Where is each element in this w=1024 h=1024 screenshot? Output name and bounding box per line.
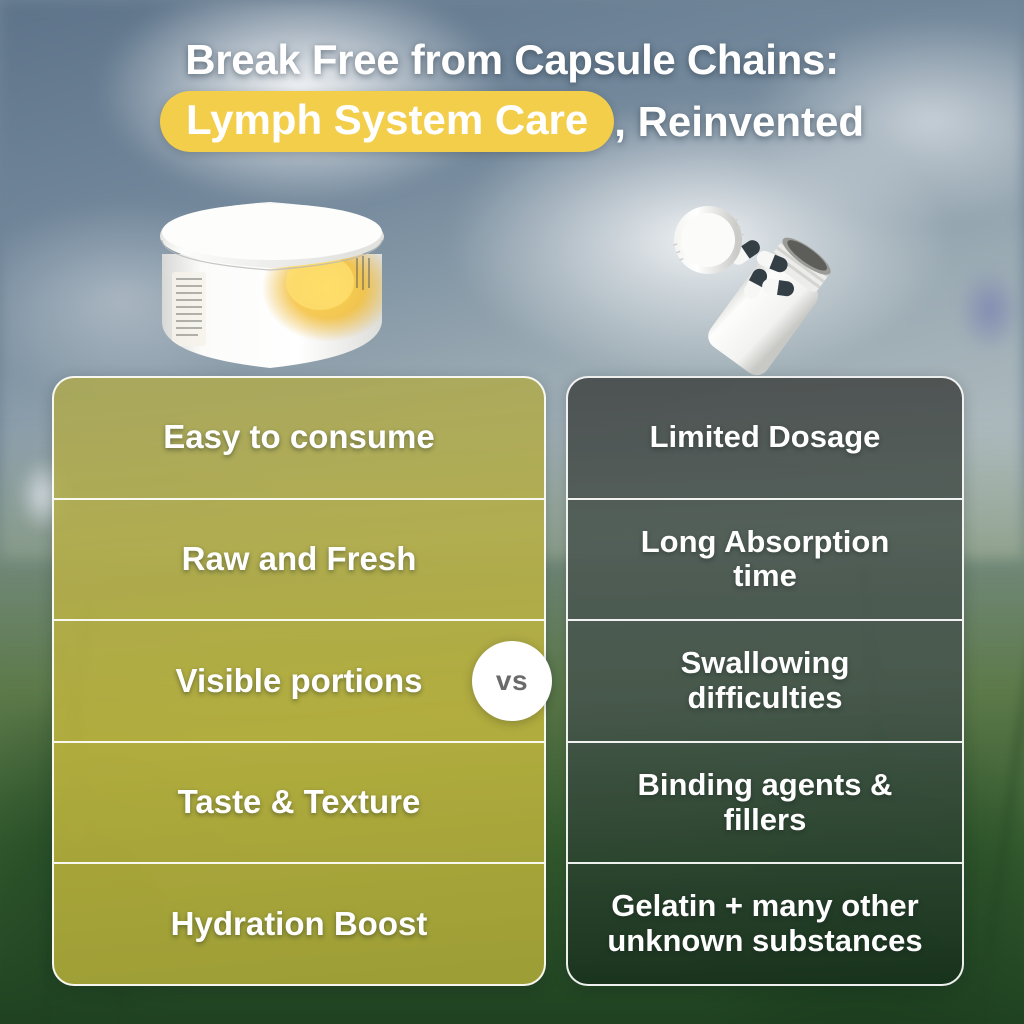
vs-label: vs — [496, 665, 528, 697]
benefit-label-2: Raw and Fresh — [182, 541, 417, 578]
headline-block: Break Free from Capsule Chains: Lymph Sy… — [0, 36, 1024, 152]
headline-tail: , Reinvented — [614, 98, 864, 145]
drawback-row-3: Swallowing difficulties — [568, 621, 962, 743]
headline-line-2: Lymph System Care, Reinvented — [0, 91, 1024, 152]
headline-line-1: Break Free from Capsule Chains: — [0, 36, 1024, 83]
benefit-row-4: Taste & Texture — [54, 743, 544, 865]
benefit-label-3: Visible portions — [176, 663, 423, 700]
drawbacks-card: Limited Dosage Long Absorption time Swal… — [566, 376, 964, 986]
drawback-label-1: Limited Dosage — [650, 420, 881, 455]
drawback-row-5: Gelatin + many other unknown substances — [568, 864, 962, 984]
drawback-label-5: Gelatin + many other unknown substances — [607, 889, 922, 958]
drawback-label-3: Swallowing difficulties — [681, 646, 850, 715]
pill-bottle-image — [660, 192, 860, 384]
headline-highlight-pill: Lymph System Care — [160, 91, 614, 152]
benefit-label-4: Taste & Texture — [178, 784, 421, 821]
benefit-row-1: Easy to consume — [54, 378, 544, 500]
drawback-row-1: Limited Dosage — [568, 378, 962, 500]
comparison-table: Easy to consume Raw and Fresh Visible po… — [0, 0, 1024, 1024]
drawback-label-2: Long Absorption time — [641, 525, 890, 594]
vs-badge: vs — [472, 641, 552, 721]
benefit-label-1: Easy to consume — [163, 419, 434, 456]
drawback-row-4: Binding agents & fillers — [568, 743, 962, 865]
benefit-label-5: Hydration Boost — [171, 906, 428, 943]
drawback-row-2: Long Absorption time — [568, 500, 962, 622]
benefit-row-5: Hydration Boost — [54, 864, 544, 984]
product-jar-image: Nature's Blast LYMPH GO Supports Lymphat… — [150, 196, 396, 376]
benefit-row-2: Raw and Fresh — [54, 500, 544, 622]
benefit-row-3: Visible portions — [54, 621, 544, 743]
drawback-label-4: Binding agents & fillers — [638, 768, 893, 837]
